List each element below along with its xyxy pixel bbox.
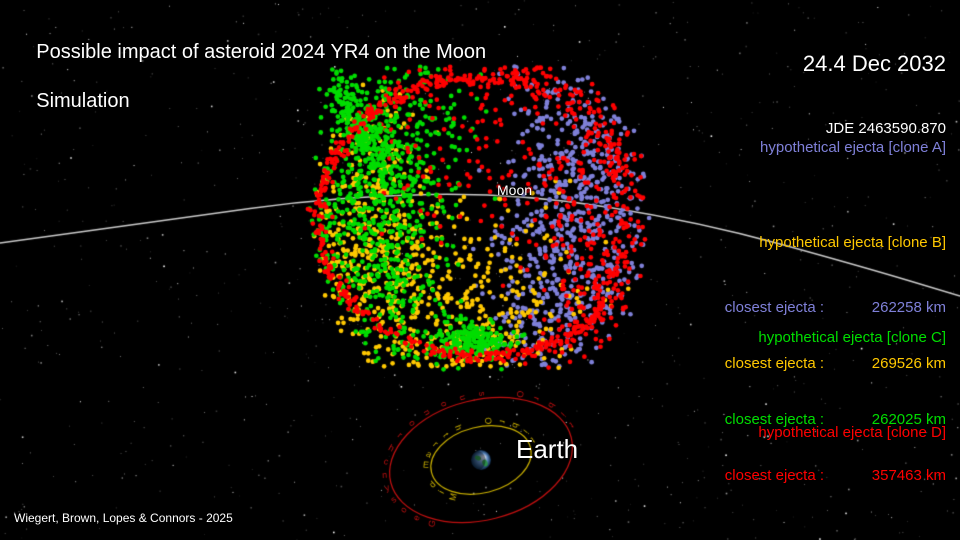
moon-label: Moon [497, 182, 532, 199]
closest-ejecta-row-clone-c: closest ejecta : 262025 km [725, 410, 946, 430]
earth-label: Earth [516, 434, 578, 466]
closest-ejecta-value-d: 357463 km [834, 466, 946, 486]
closest-ejecta-row-clone-b: closest ejecta : 269526 km [725, 354, 946, 374]
closest-ejecta-value-b: 269526 km [834, 354, 946, 374]
legend-label-clone-a: hypothetical ejecta [clone A] [760, 139, 946, 156]
title-line-1: Possible impact of asteroid 2024 YR4 on … [36, 41, 486, 63]
simulation-viewport: Possible impact of asteroid 2024 YR4 on … [0, 0, 960, 540]
page-title: Possible impact of asteroid 2024 YR4 on … [14, 16, 486, 138]
closest-ejecta-value-a: 262258 km [834, 298, 946, 318]
closest-ejecta-value-c: 262025 km [834, 410, 946, 430]
closest-ejecta-label-c: closest ejecta : [725, 410, 824, 430]
closest-ejecta-readout: closest ejecta : 262258 km closest eject… [725, 261, 946, 522]
legend-item-clone-a: hypothetical ejecta [clone A] [733, 119, 946, 178]
closest-ejecta-label-b: closest ejecta : [725, 354, 824, 374]
credit-line: Wiegert, Brown, Lopes & Connors - 2025 [14, 511, 233, 526]
closest-ejecta-row-clone-d: closest ejecta : 357463 km [725, 466, 946, 486]
date-main: 24.4 Dec 2032 [803, 51, 946, 78]
closest-ejecta-label-a: closest ejecta : [725, 298, 824, 318]
closest-ejecta-row-clone-a: closest ejecta : 262258 km [725, 298, 946, 318]
closest-ejecta-label-d: closest ejecta : [725, 466, 824, 486]
title-line-2: Simulation [36, 90, 129, 112]
legend-label-clone-b: hypothetical ejecta [clone B] [759, 234, 946, 251]
